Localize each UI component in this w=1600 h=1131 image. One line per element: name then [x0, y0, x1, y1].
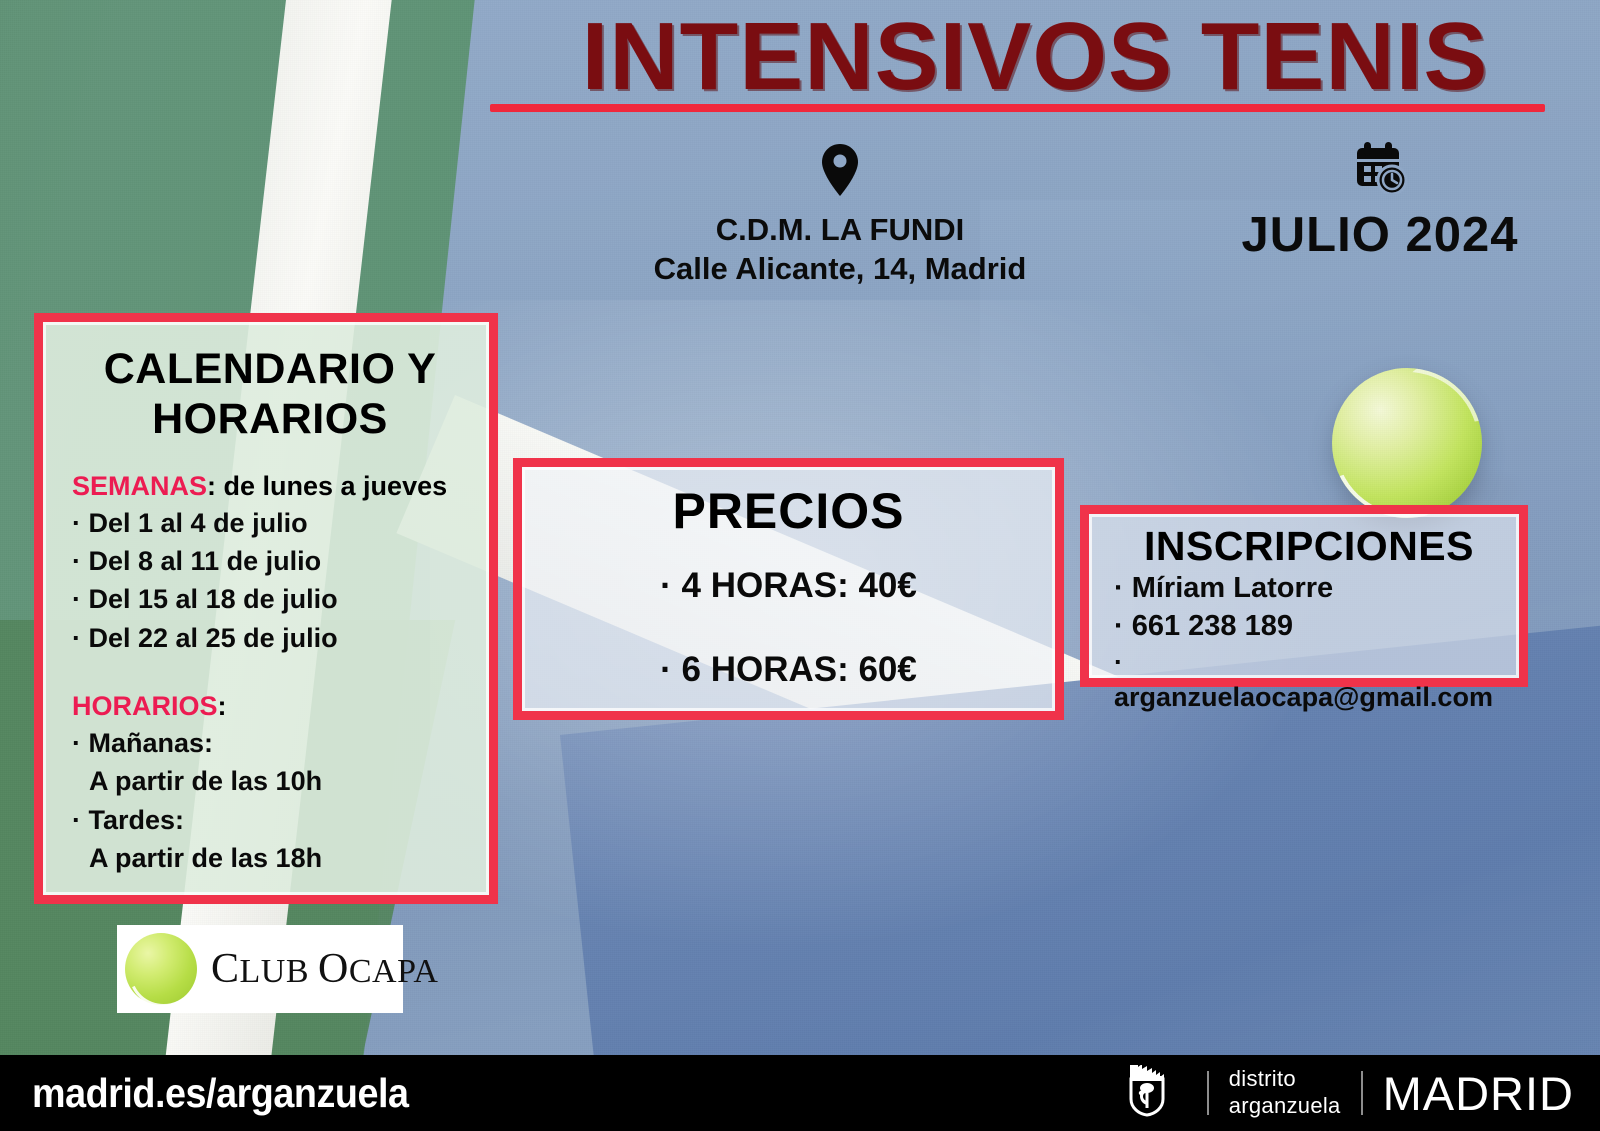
calendar-clock-icon [1190, 142, 1570, 199]
tennis-ball-photo [1332, 368, 1482, 518]
registration-email: · arganzuelaocapa@gmail.com [1114, 645, 1504, 715]
location-pin-icon [610, 142, 1070, 203]
footer-branding: distrito arganzuela MADRID [1125, 1055, 1600, 1131]
page-title: INTENSIVOS TENIS [480, 8, 1590, 106]
week-item: · Del 15 al 18 de julio [72, 580, 468, 618]
schedule-item: · Tardes: [72, 801, 468, 839]
venue-block: C.D.M. LA FUNDI Calle Alicante, 14, Madr… [610, 142, 1070, 289]
weeks-value: : de lunes a jueves [207, 471, 447, 501]
week-item: · Del 22 al 25 de julio [72, 619, 468, 657]
prices-box: PRECIOS · 4 HORAS: 40€ · 6 HORAS: 60€ [513, 458, 1064, 720]
footer-divider [1361, 1071, 1363, 1115]
price-row: · 4 HORAS: 40€ [535, 566, 1042, 606]
week-item: · Del 1 al 4 de julio [72, 504, 468, 542]
club-logo-text: CLUB OCAPA [211, 945, 438, 993]
schedule-colon: : [218, 691, 227, 721]
date-block: JULIO 2024 [1190, 142, 1570, 263]
footer-divider [1207, 1071, 1209, 1115]
venue-name: C.D.M. LA FUNDI [610, 211, 1070, 250]
tennis-ball-icon [125, 933, 197, 1005]
schedule-detail: A partir de las 18h [72, 839, 468, 877]
calendar-schedule-box: CALENDARIO Y HORARIOS SEMANAS: de lunes … [34, 313, 498, 904]
footer-district-line2: arganzuela [1229, 1093, 1341, 1120]
weeks-heading: SEMANAS: de lunes a jueves [72, 471, 468, 502]
registration-phone: · 661 238 189 [1114, 608, 1504, 646]
club-name-initial: C [211, 946, 240, 992]
venue-address: Calle Alicante, 14, Madrid [610, 250, 1070, 289]
footer-district: distrito arganzuela [1229, 1066, 1341, 1120]
spacer [72, 657, 468, 691]
schedule-detail: A partir de las 10h [72, 762, 468, 800]
date-month: JULIO 2024 [1190, 207, 1570, 263]
registration-contact: · Míriam Latorre [1114, 570, 1504, 608]
poster-canvas: INTENSIVOS TENIS C.D.M. LA FUNDI Calle A… [0, 0, 1600, 1131]
club-ocapa-logo: CLUB OCAPA [117, 925, 403, 1013]
madrid-coat-of-arms-icon [1125, 1065, 1169, 1122]
schedule-item: · Mañanas: [72, 724, 468, 762]
footer-bar: madrid.es/arganzuela distrito arganzuela [0, 1055, 1600, 1131]
schedule-heading: HORARIOS: [72, 691, 468, 722]
club-second-initial: O [318, 946, 349, 992]
registration-title: INSCRIPCIONES [1114, 523, 1504, 570]
title-underline-rule [490, 104, 1545, 112]
footer-city-madrid: MADRID [1383, 1066, 1574, 1121]
registration-box: INSCRIPCIONES · Míriam Latorre · 661 238… [1080, 505, 1528, 687]
calendar-box-title: CALENDARIO Y HORARIOS [72, 345, 468, 445]
price-row: · 6 HORAS: 60€ [535, 650, 1042, 690]
tennis-ball-icon [1332, 368, 1482, 518]
schedule-label: HORARIOS [72, 691, 218, 721]
club-second-rest: CAPA [349, 953, 439, 990]
footer-website-url[interactable]: madrid.es/arganzuela [32, 1070, 409, 1117]
club-name-rest: LUB [240, 953, 310, 990]
prices-title: PRECIOS [535, 482, 1042, 540]
week-item: · Del 8 al 11 de julio [72, 542, 468, 580]
footer-district-line1: distrito [1229, 1066, 1341, 1093]
weeks-label: SEMANAS [72, 471, 207, 501]
